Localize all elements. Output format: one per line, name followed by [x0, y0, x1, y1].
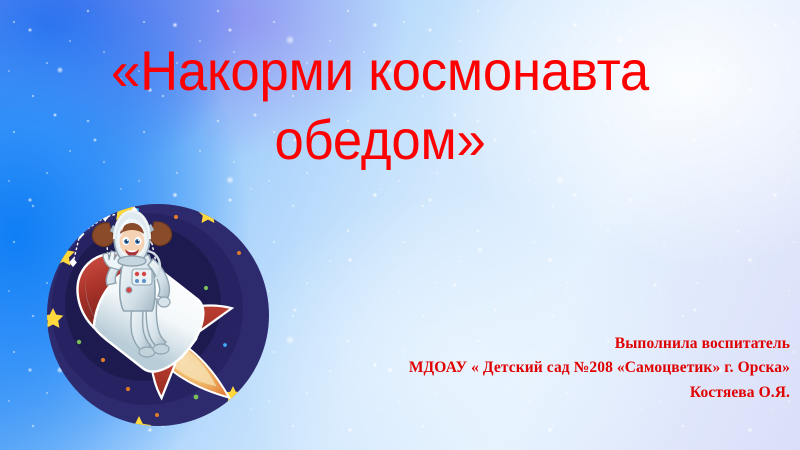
title-line-1: «Накорми космонавта	[60, 42, 699, 99]
author-line-role: Выполнила воспитатель	[170, 332, 790, 356]
author-line-institution: МДОАУ « Детский сад №208 «Самоцветик» г.…	[170, 356, 790, 380]
author-line-name: Костяева О.Я.	[170, 381, 790, 405]
author-credit-block: Выполнила воспитатель МДОАУ « Детский са…	[170, 332, 790, 405]
title-line-2: обедом»	[60, 111, 699, 168]
slide-title: «Накорми космонавта обедом»	[40, 42, 720, 168]
helmet-collar	[118, 256, 146, 266]
presentation-slide: «Накорми космонавта обедом» Выполнила во…	[0, 0, 800, 450]
